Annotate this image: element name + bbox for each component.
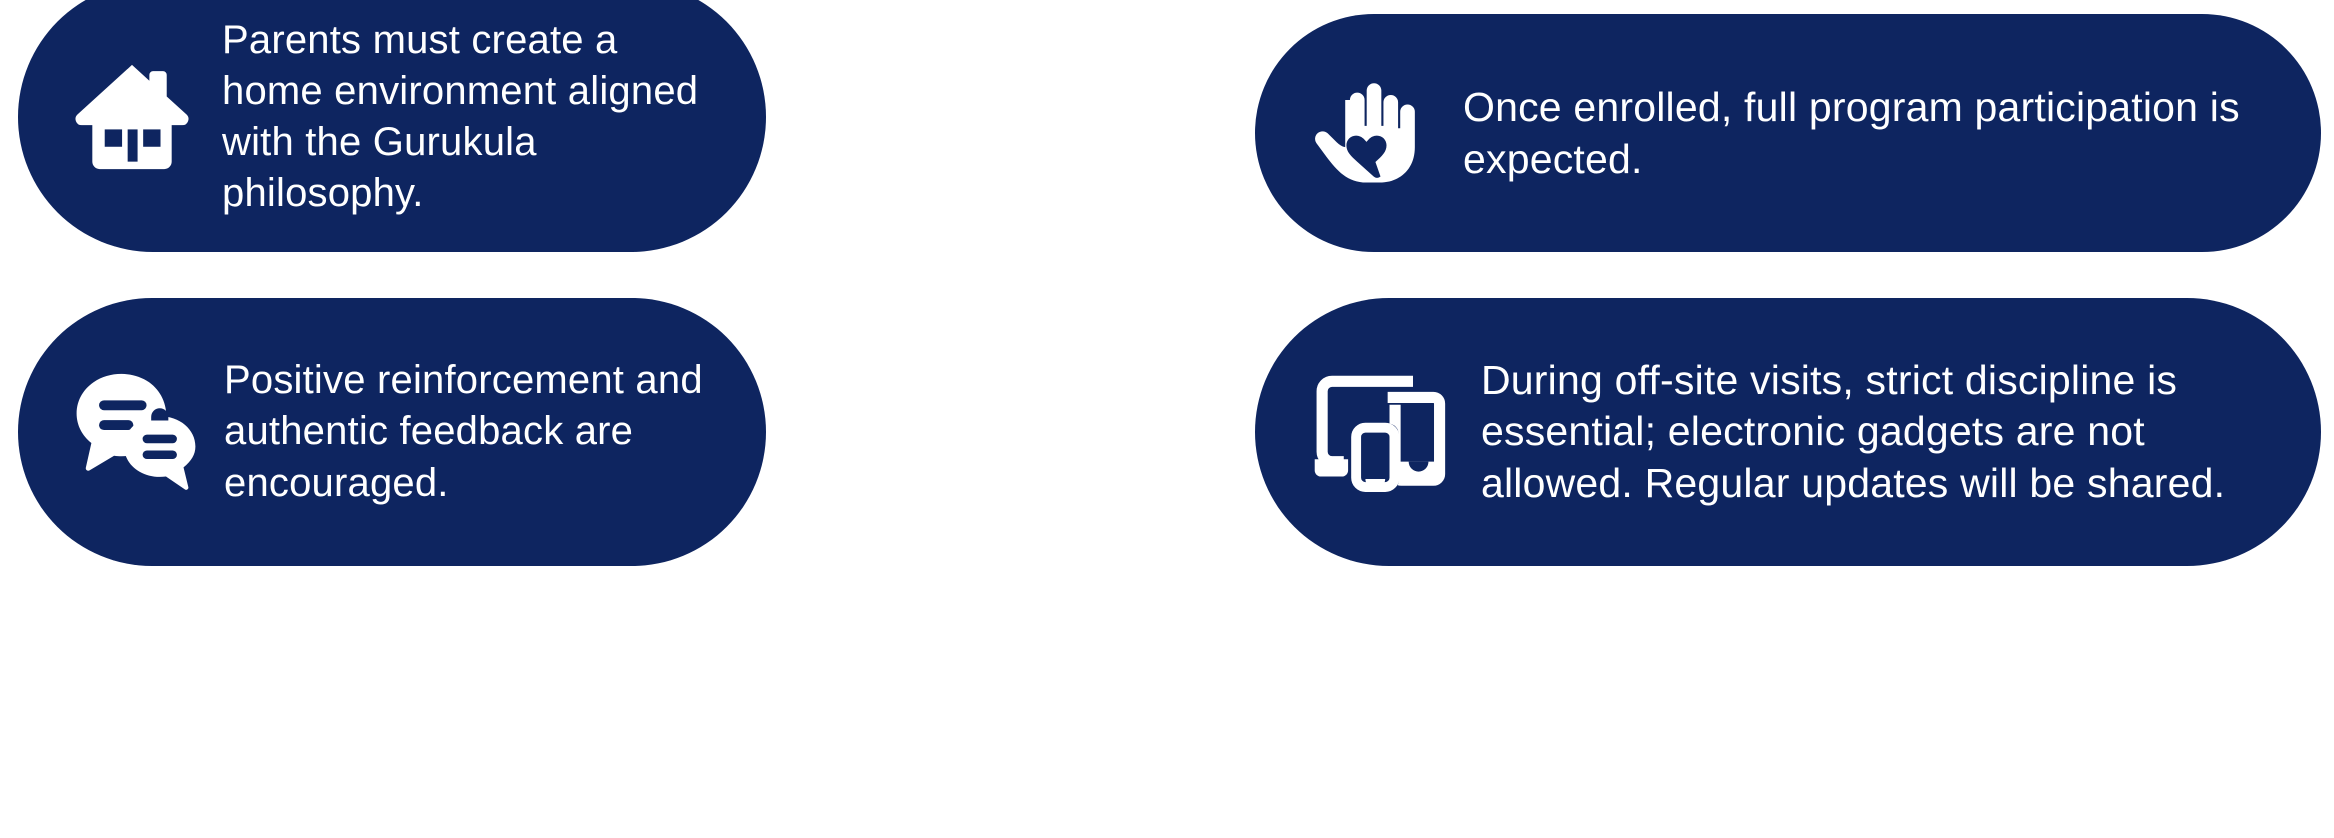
guideline-text: Parents must create a home environment a… [222,15,726,220]
hand-heart-icon [1311,74,1429,192]
guideline-cards-board: Parents must create a home environment a… [0,0,2334,838]
chat-bubbles-icon [70,366,202,498]
guideline-text: During off-site visits, strict disciplin… [1481,355,2281,510]
guideline-card-feedback: Positive reinforcement and authentic fee… [18,298,766,566]
devices-icon [1311,370,1447,494]
house-icon [70,55,194,179]
guideline-card-offsite: During off-site visits, strict disciplin… [1255,298,2321,566]
guideline-text: Once enrolled, full program participatio… [1463,81,2275,186]
guideline-card-home: Parents must create a home environment a… [18,0,766,252]
guideline-text: Positive reinforcement and authentic fee… [224,355,726,509]
guideline-card-participation: Once enrolled, full program participatio… [1255,14,2321,252]
